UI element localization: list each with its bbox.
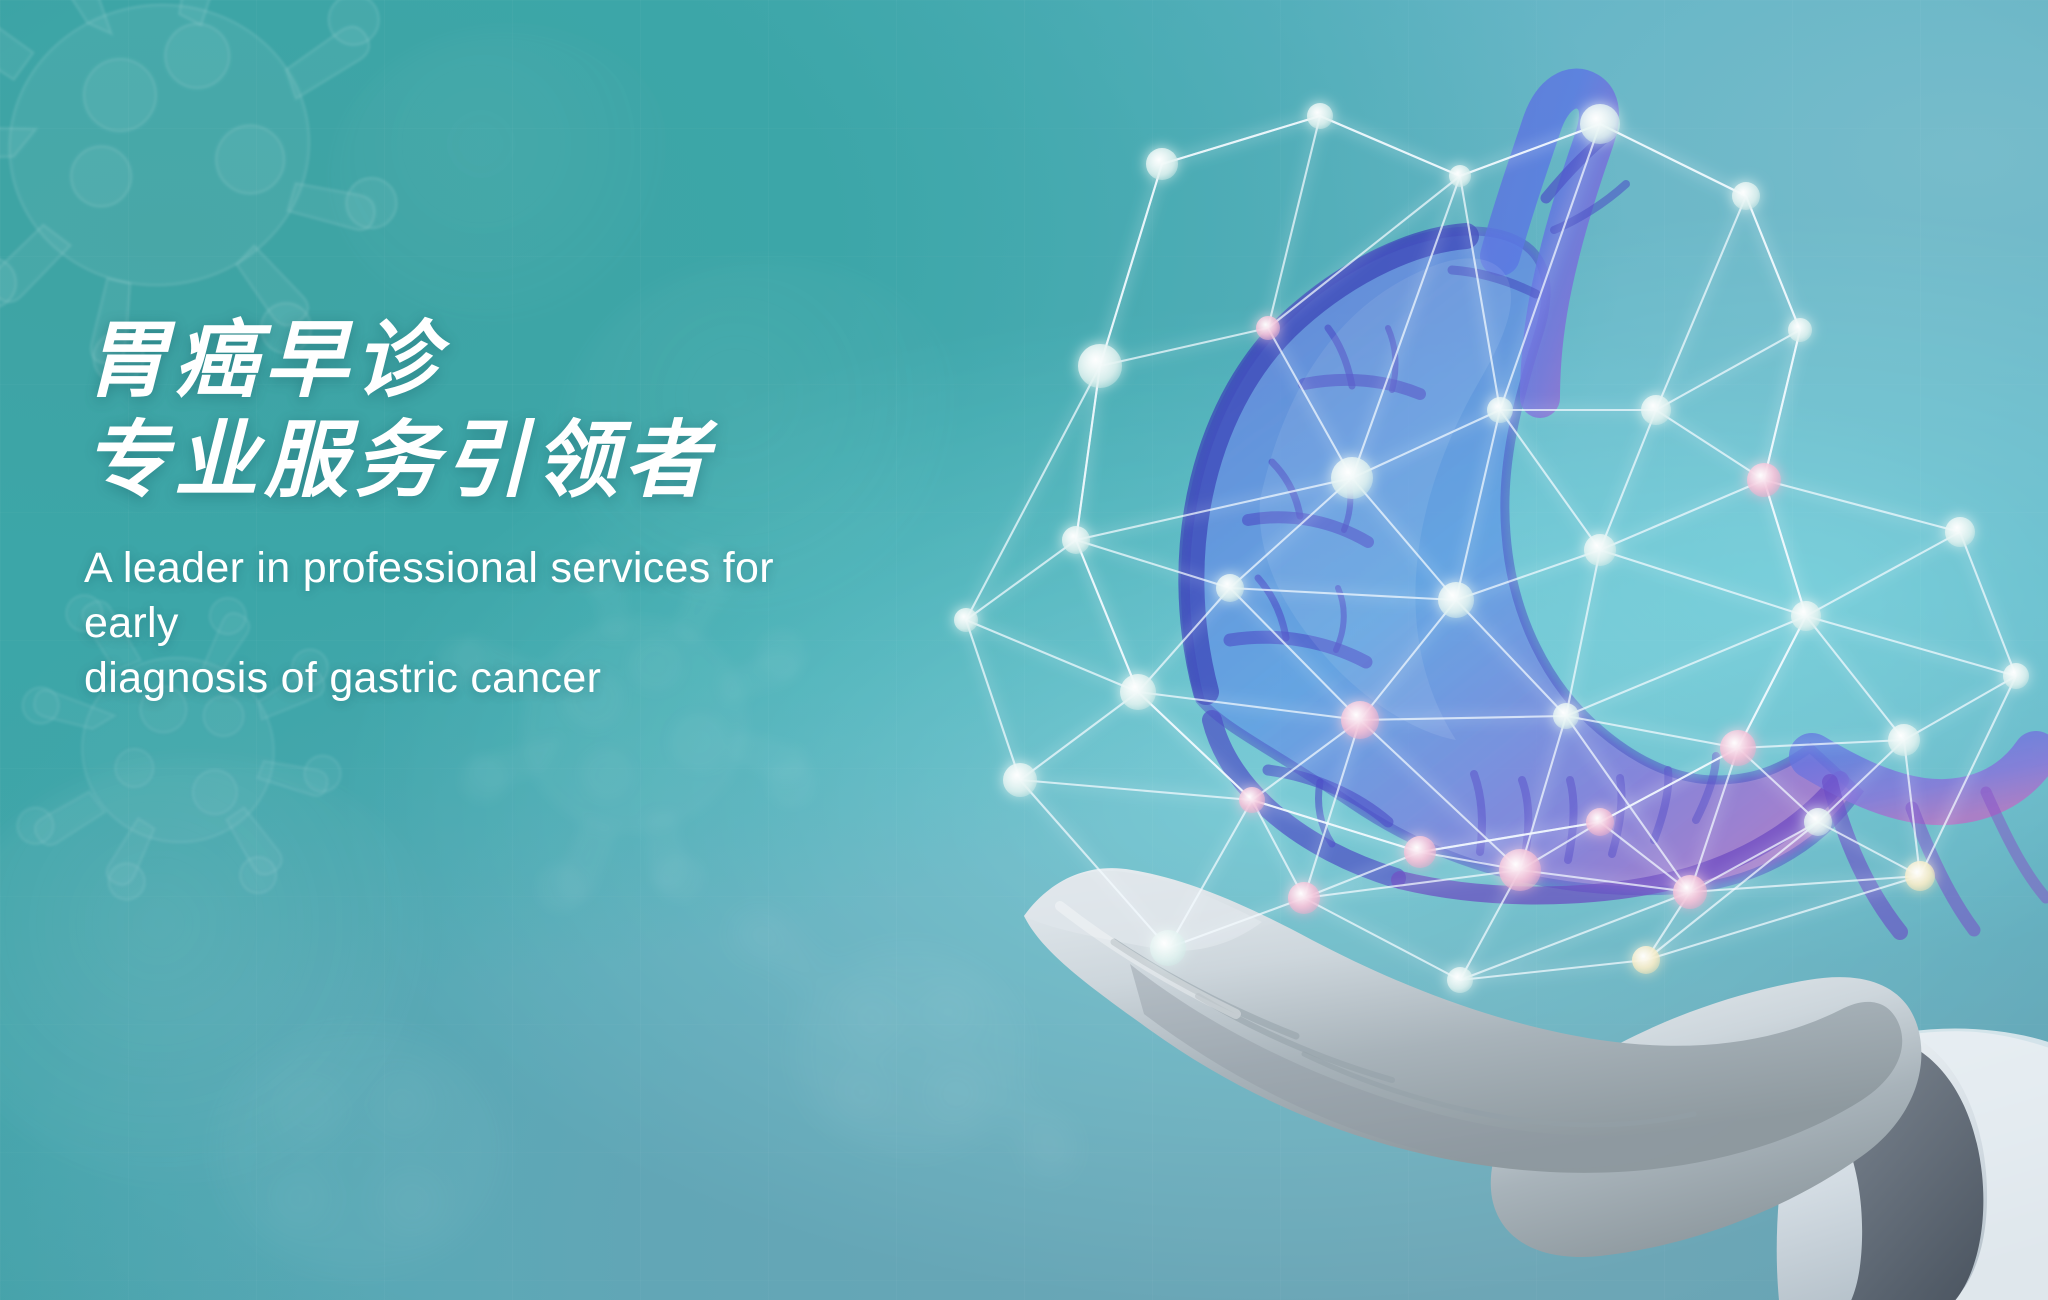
headline-line-2: 专业服务引领者 (84, 418, 1064, 504)
page-title: 胃癌早诊 专业服务引领者 (84, 318, 1064, 503)
subtitle-line-1: A leader in professional services for ea… (84, 541, 874, 651)
headline-line-1: 胃癌早诊 (84, 313, 444, 407)
page-subtitle: A leader in professional services for ea… (84, 541, 874, 706)
hero-illustration (900, 80, 2048, 1300)
banner-root: 胃癌早诊 专业服务引领者 A leader in professional se… (0, 0, 2048, 1300)
subtitle-line-2: diagnosis of gastric cancer (84, 651, 874, 706)
banner-copy: 胃癌早诊 专业服务引领者 A leader in professional se… (84, 318, 1064, 706)
